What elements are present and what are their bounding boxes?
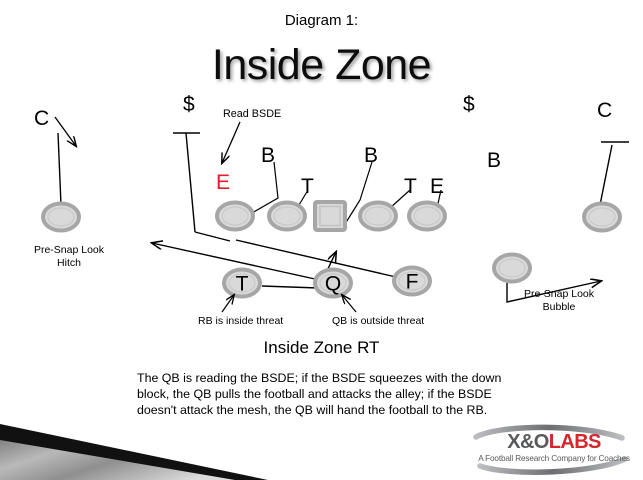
defense-label-frontside-defensive-end: E bbox=[430, 176, 444, 197]
annotation-qb-threat: QB is outside threat bbox=[332, 315, 424, 328]
player-left-tackle bbox=[217, 203, 253, 230]
player-right-guard bbox=[360, 203, 396, 230]
player-markers: TQF bbox=[43, 202, 620, 297]
defense-label-left-defensive-tackle: T bbox=[301, 176, 314, 197]
slide-label: Diagram 1: bbox=[0, 12, 643, 30]
annotation-read-bsde: Read BSDE bbox=[223, 108, 281, 121]
defense-label-right-linebacker: B bbox=[364, 145, 378, 166]
defense-label-backside-defensive-end-read-key: E bbox=[216, 172, 230, 193]
corner-wedge-decoration bbox=[0, 413, 268, 480]
annotation-presnap-right: Pre-Snap Look Bubble bbox=[498, 288, 620, 314]
defense-label-right-defensive-tackle: T bbox=[404, 176, 417, 197]
player-left-guard bbox=[269, 203, 305, 230]
player-label: Q bbox=[325, 273, 341, 296]
logo-tagline: A Football Research Company for Coaches bbox=[470, 454, 638, 463]
presnap-left-line2: Hitch bbox=[57, 257, 81, 269]
defense-label-right-outside-linebacker: B bbox=[487, 150, 501, 171]
presnap-right-line1: Pre-Snap Look bbox=[524, 288, 594, 300]
annotation-presnap-left: Pre-Snap Look Hitch bbox=[10, 244, 128, 270]
player-quarterback: Q bbox=[315, 270, 351, 297]
logo-xando: X&O bbox=[507, 431, 549, 453]
read-bsde-arrow bbox=[222, 122, 240, 163]
defense-label-left-linebacker: B bbox=[261, 145, 275, 166]
player-right-tackle bbox=[409, 203, 445, 230]
presnap-right-line2: Bubble bbox=[543, 301, 576, 313]
annotation-rb-threat: RB is inside threat bbox=[198, 315, 294, 328]
route-left-hitch bbox=[58, 133, 61, 205]
route-right-vertical bbox=[600, 142, 629, 205]
defense-label-right-corner: C bbox=[597, 100, 612, 121]
h-back-path bbox=[236, 240, 396, 277]
player-fullback-h-back: F bbox=[394, 268, 430, 295]
player-right-slot-receiver bbox=[494, 255, 530, 282]
player-center bbox=[315, 202, 345, 230]
defense-label-left-strong-safety: $ bbox=[183, 94, 195, 115]
presnap-left-line1: Pre-Snap Look bbox=[34, 244, 104, 256]
brand-logo: X&OLABS A Football Research Company for … bbox=[470, 428, 638, 474]
player-left-wide-receiver bbox=[43, 204, 79, 231]
defense-label-left-corner: C bbox=[34, 108, 49, 129]
play-description: The QB is reading the BSDE; if the BSDE … bbox=[137, 370, 517, 418]
defense-label-right-strong-safety: $ bbox=[463, 94, 475, 115]
slide-canvas: TQF Diagram 1: Inside Zone Read BSDE Pre… bbox=[0, 0, 643, 480]
page-title: Inside Zone bbox=[0, 40, 643, 91]
player-right-wide-receiver bbox=[584, 204, 620, 231]
player-label: T bbox=[236, 273, 249, 296]
player-running-back: T bbox=[224, 270, 260, 297]
logo-labs: LABS bbox=[549, 431, 601, 453]
play-name: Inside Zone RT bbox=[0, 338, 643, 358]
player-label: F bbox=[406, 271, 419, 294]
logo-wordmark: X&OLABS bbox=[470, 432, 638, 452]
